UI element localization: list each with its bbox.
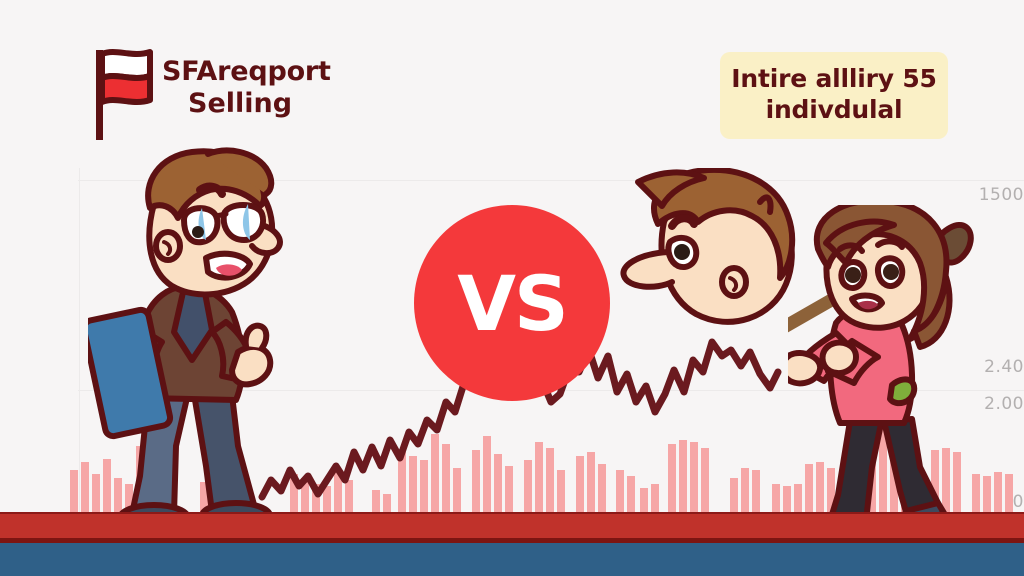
footer-band-blue (0, 543, 1024, 576)
girl-with-broom (788, 205, 978, 530)
head-right (612, 168, 812, 353)
analyst-man-left (88, 146, 348, 526)
callout-line2: indivdulal (730, 95, 938, 126)
flag-label-line2: Selling (188, 88, 331, 120)
flag-label-group: SFAreqport Selling (92, 46, 331, 142)
poland-flag-icon (92, 46, 156, 142)
vs-badge: VS (414, 205, 610, 401)
callout-box: Intire allliry 55 indivdulal (720, 52, 948, 139)
vs-badge-label: VS (457, 259, 567, 348)
callout-line1: Intire allliry 55 (730, 64, 938, 95)
illustration-canvas: 1500 2.40 2.00 0 (0, 0, 1024, 576)
flag-label-text: SFAreqport Selling (162, 46, 331, 120)
flag-label-line1: SFAreqport (162, 56, 331, 88)
